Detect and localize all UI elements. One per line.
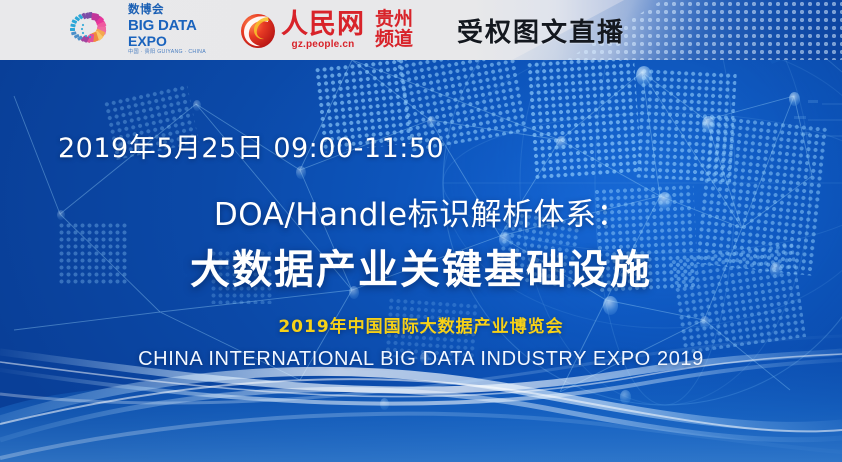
event-datetime: 2019年5月25日 09:00-11:50 (58, 126, 444, 165)
expo-logo-location: 中国 · 贵阳 GUIYANG · CHINA (128, 50, 206, 55)
poster-content: 2019年5月25日 09:00-11:50 DOA/Handle标识解析体系：… (0, 0, 842, 462)
peoples-daily-url: gz.people.cn (281, 40, 365, 50)
expo-logo-en-line1: BIG DATA (128, 18, 206, 33)
expo-logo-en-line2: EXPO (128, 34, 206, 48)
guizhou-channel-label: 贵州 频道 (375, 10, 413, 50)
expo-logo-cn-name: 数博会 (128, 5, 206, 17)
peoples-daily-cn-name: 人民网 (281, 11, 365, 38)
live-broadcast-poster: 数博会 BIG DATA EXPO 中国 · 贵阳 GUIYANG · CHIN… (0, 0, 842, 462)
bigdata-expo-logo[interactable]: 数博会 BIG DATA EXPO 中国 · 贵阳 GUIYANG · CHIN… (62, 4, 206, 56)
peoples-daily-logo[interactable]: 人民网 gz.people.cn 贵州 频道 (238, 9, 413, 51)
event-subtitle-cn: 2019年中国国际大数据产业博览会 (0, 312, 842, 337)
event-title-line1: DOA/Handle标识解析体系： (0, 189, 842, 234)
authorized-live-label: 受权图文直播 (457, 12, 625, 49)
guizhou-channel-line2: 频道 (375, 30, 413, 50)
peoples-daily-sphere-icon (238, 9, 278, 51)
event-title-line2: 大数据产业关键基础设施 (0, 237, 842, 295)
header-bar: 数博会 BIG DATA EXPO 中国 · 贵阳 GUIYANG · CHIN… (0, 0, 842, 60)
bigdata-expo-spiral-icon (62, 4, 122, 56)
event-subtitle-en: CHINA INTERNATIONAL BIG DATA INDUSTRY EX… (0, 348, 842, 371)
